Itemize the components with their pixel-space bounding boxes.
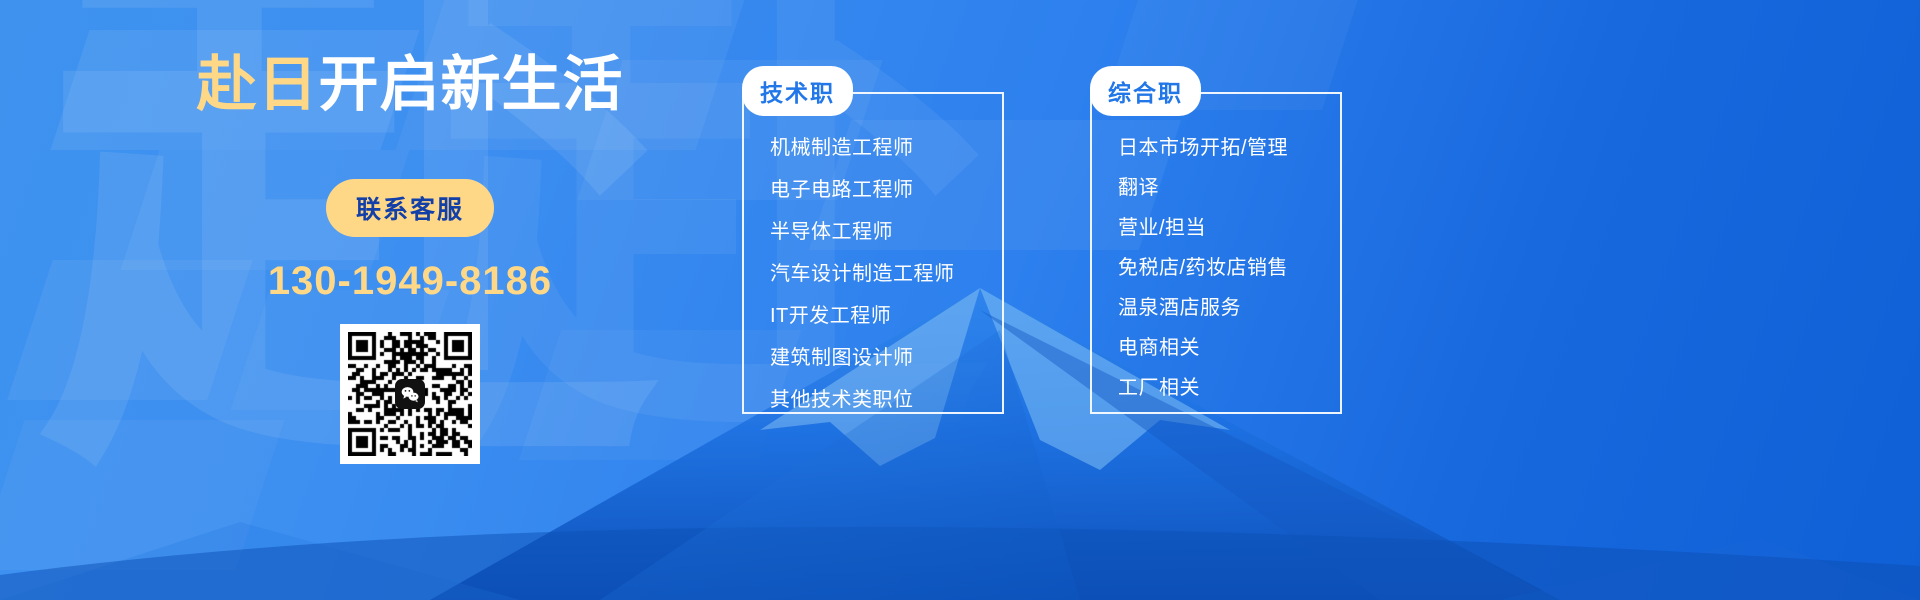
job-list-technical: 机械制造工程师 电子电路工程师 半导体工程师 汽车设计制造工程师 IT开发工程师… [744,94,1002,410]
wechat-icon [395,379,425,409]
job-item[interactable]: 日本市场开拓/管理 [1118,138,1340,158]
job-item[interactable]: 其他技术类职位 [770,390,1002,410]
job-item[interactable]: 工厂相关 [1118,378,1340,398]
job-item[interactable]: IT开发工程师 [770,306,1002,326]
job-column-title-technical: 技术职 [742,66,853,116]
job-item[interactable]: 免税店/药妆店销售 [1118,258,1340,278]
page-title: 赴日开启新生活 [197,50,624,119]
job-column-technical: 技术职 机械制造工程师 电子电路工程师 半导体工程师 汽车设计制造工程师 IT开… [742,92,1004,414]
job-item[interactable]: 建筑制图设计师 [770,348,1002,368]
job-item[interactable]: 翻译 [1118,178,1340,198]
job-item[interactable]: 营业/担当 [1118,218,1340,238]
job-item[interactable]: 机械制造工程师 [770,138,1002,158]
left-content-block: 赴日开启新生活 联系客服 130-1949-8186 [150,30,670,464]
wechat-qr-code[interactable] [340,324,480,464]
headline-accent: 赴日 [197,51,319,118]
headline-plain: 开启新生活 [319,51,624,118]
job-item[interactable]: 电子电路工程师 [770,180,1002,200]
phone-number: 130-1949-8186 [268,259,552,304]
promo-banner: 赴 赴 [0,0,1920,600]
contact-service-button[interactable]: 联系客服 [326,179,494,237]
job-item[interactable]: 汽车设计制造工程师 [770,264,1002,284]
job-column-general: 综合职 日本市场开拓/管理 翻译 营业/担当 免税店/药妆店销售 温泉酒店服务 … [1090,92,1342,414]
job-item[interactable]: 电商相关 [1118,338,1340,358]
job-item[interactable]: 温泉酒店服务 [1118,298,1340,318]
job-column-title-general: 综合职 [1090,66,1201,116]
job-list-general: 日本市场开拓/管理 翻译 营业/担当 免税店/药妆店销售 温泉酒店服务 电商相关… [1092,94,1340,398]
job-item[interactable]: 半导体工程师 [770,222,1002,242]
